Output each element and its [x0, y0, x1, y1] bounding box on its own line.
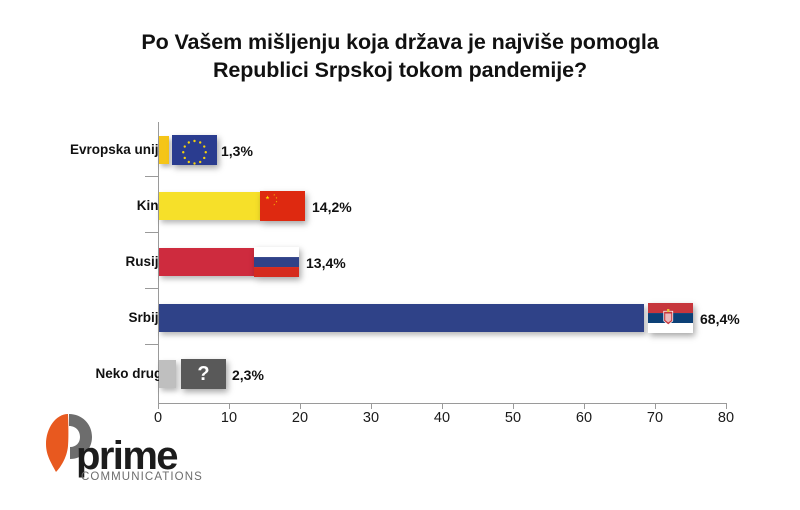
x-tick-10 — [229, 403, 230, 409]
serbia-flag-icon — [648, 303, 693, 333]
question-mark-icon: ? — [181, 359, 226, 389]
prime-communications-logo: prime COMMUNICATIONS — [26, 412, 216, 492]
x-tick-label-40: 40 — [422, 410, 462, 426]
category-label-srbija: Srbija — [16, 310, 166, 325]
category-separator-3 — [145, 288, 158, 289]
bar-srbija[interactable] — [159, 304, 644, 332]
logo-wordmark: prime — [76, 436, 177, 476]
china-flag-icon — [260, 191, 305, 221]
bar-kina[interactable] — [159, 192, 260, 220]
category-label-evropska-unija: Evropska unija — [16, 142, 166, 157]
eu-flag-icon — [172, 135, 217, 165]
bar-rusija[interactable] — [159, 248, 254, 276]
x-tick-label-50: 50 — [493, 410, 533, 426]
bar-neko-drugi[interactable] — [159, 360, 176, 388]
category-separator-1 — [145, 176, 158, 177]
logo-tagline: COMMUNICATIONS — [81, 472, 203, 484]
category-separator-2 — [145, 232, 158, 233]
x-tick-label-80: 80 — [706, 410, 746, 426]
value-label-evropska-unija: 1,3% — [221, 143, 253, 159]
category-label-rusija: Rusija — [16, 254, 166, 269]
x-tick-label-20: 20 — [280, 410, 320, 426]
value-label-srbija: 68,4% — [700, 311, 740, 327]
value-label-rusija: 13,4% — [306, 255, 346, 271]
x-tick-70 — [655, 403, 656, 409]
x-tick-30 — [371, 403, 372, 409]
russia-flag-icon — [254, 247, 299, 277]
value-label-neko-drugi: 2,3% — [232, 367, 264, 383]
x-tick-60 — [584, 403, 585, 409]
category-separator-4 — [145, 344, 158, 345]
bar-evropska-unija[interactable] — [159, 136, 169, 164]
value-label-kina: 14,2% — [312, 199, 352, 215]
x-tick-20 — [300, 403, 301, 409]
category-label-neko-drugi: Neko drugi — [16, 366, 166, 381]
x-tick-80 — [726, 403, 727, 409]
x-tick-label-30: 30 — [351, 410, 391, 426]
x-tick-label-60: 60 — [564, 410, 604, 426]
x-tick-0 — [158, 403, 159, 409]
x-tick-50 — [513, 403, 514, 409]
x-tick-40 — [442, 403, 443, 409]
x-tick-label-70: 70 — [635, 410, 675, 426]
category-label-kina: Kina — [16, 198, 166, 213]
